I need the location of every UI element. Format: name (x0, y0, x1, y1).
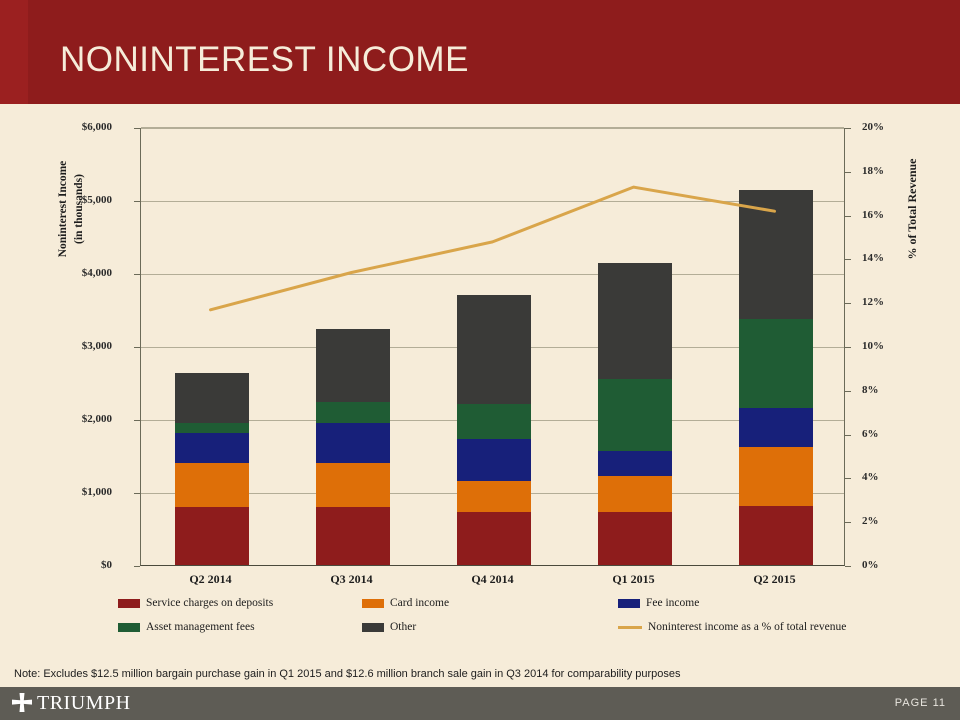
secondary-y-axis-tick-label: 12% (862, 296, 884, 308)
bar-stack[interactable] (457, 127, 531, 565)
x-axis-tick-label: Q3 2014 (281, 572, 422, 587)
y-axis-tick (134, 566, 140, 567)
legend-color-swatch (118, 623, 140, 632)
secondary-y-axis-tick (845, 435, 851, 436)
legend-color-swatch (362, 623, 384, 632)
secondary-y-axis-tick (845, 566, 851, 567)
secondary-y-axis-tick-label: 2% (862, 515, 879, 527)
brand-name: TRIUMPH (37, 692, 131, 715)
bar-segment[interactable] (739, 447, 813, 506)
slide-header: NONINTEREST INCOME (0, 0, 960, 104)
bar-segment[interactable] (598, 263, 672, 379)
secondary-y-axis-tick (845, 478, 851, 479)
bar-segment[interactable] (598, 379, 672, 451)
bar-segment[interactable] (739, 408, 813, 447)
x-axis-tick-label: Q4 2014 (422, 572, 563, 587)
legend-label: Other (390, 621, 416, 633)
bar-segment[interactable] (175, 463, 249, 507)
bar-segment[interactable] (316, 507, 390, 565)
legend-item[interactable]: Card income (362, 597, 449, 609)
slide: NONINTEREST INCOME Noninterest Income (i… (0, 0, 960, 720)
secondary-y-axis-tick-label: 4% (862, 471, 879, 483)
bar-segment[interactable] (457, 481, 531, 512)
bar-segment[interactable] (457, 512, 531, 565)
bar-stack[interactable] (316, 127, 390, 565)
legend-label: Noninterest income as a % of total reven… (648, 621, 846, 633)
bar-segment[interactable] (598, 476, 672, 512)
bar-stack[interactable] (175, 127, 249, 565)
secondary-y-axis-tick (845, 128, 851, 129)
y-axis-tick-label: $4,000 (40, 267, 112, 279)
legend-label: Card income (390, 597, 449, 609)
bar-segment[interactable] (175, 507, 249, 565)
y-axis-tick-label: $3,000 (40, 340, 112, 352)
legend-color-swatch (618, 599, 640, 608)
slide-footer: TRIUMPH PAGE 11 (0, 687, 960, 720)
secondary-y-axis-tick (845, 259, 851, 260)
bar-segment[interactable] (316, 463, 390, 507)
secondary-y-axis-tick (845, 391, 851, 392)
legend-item[interactable]: Noninterest income as a % of total reven… (618, 621, 846, 633)
legend-label: Asset management fees (146, 621, 255, 633)
y-axis-tick-label: $6,000 (40, 121, 112, 133)
bar-segment[interactable] (598, 512, 672, 565)
legend-label: Service charges on deposits (146, 597, 273, 609)
y-axis-tick-label: $2,000 (40, 413, 112, 425)
y-axis-tick-label: $5,000 (40, 194, 112, 206)
secondary-y-axis-tick-label: 6% (862, 428, 879, 440)
page-number: PAGE 11 (895, 697, 946, 709)
y-axis-tick-label: $1,000 (40, 486, 112, 498)
plot-area (140, 128, 845, 566)
bar-segment[interactable] (457, 404, 531, 439)
legend-color-swatch (118, 599, 140, 608)
secondary-y-axis-tick (845, 303, 851, 304)
x-axis-tick-label: Q2 2014 (140, 572, 281, 587)
legend-item[interactable]: Asset management fees (118, 621, 255, 633)
secondary-y-axis-title: % of Total Revenue (905, 134, 920, 284)
y-axis-title: Noninterest Income (in thousands) (56, 139, 87, 279)
legend-line-swatch (618, 626, 642, 629)
bar-segment[interactable] (175, 423, 249, 433)
legend-item[interactable]: Other (362, 621, 416, 633)
secondary-y-axis-tick (845, 172, 851, 173)
secondary-y-axis-tick (845, 216, 851, 217)
x-axis-tick-label: Q2 2015 (704, 572, 845, 587)
secondary-y-axis-tick-label: 0% (862, 559, 879, 571)
x-axis-tick-label: Q1 2015 (563, 572, 704, 587)
bar-segment[interactable] (175, 433, 249, 463)
legend-color-swatch (362, 599, 384, 608)
bar-segment[interactable] (175, 373, 249, 423)
secondary-y-axis-tick-label: 10% (862, 340, 884, 352)
secondary-y-axis-tick-label: 8% (862, 384, 879, 396)
legend-item[interactable]: Service charges on deposits (118, 597, 273, 609)
chart-area: Noninterest Income (in thousands) % of T… (0, 104, 960, 655)
chart-legend: Service charges on depositsCard incomeFe… (0, 595, 960, 643)
page-title: NONINTEREST INCOME (60, 40, 469, 80)
y-axis-tick-label: $0 (40, 559, 112, 571)
bar-segment[interactable] (598, 451, 672, 476)
secondary-y-axis-tick (845, 347, 851, 348)
bar-stack[interactable] (598, 127, 672, 565)
legend-label: Fee income (646, 597, 699, 609)
legend-item[interactable]: Fee income (618, 597, 699, 609)
header-accent-bar (0, 0, 28, 104)
secondary-y-axis-tick (845, 522, 851, 523)
bar-segment[interactable] (739, 319, 813, 408)
bar-segment[interactable] (457, 295, 531, 404)
bar-segment[interactable] (739, 190, 813, 319)
bar-segment[interactable] (316, 329, 390, 402)
secondary-y-axis-tick-label: 14% (862, 252, 884, 264)
bar-segment[interactable] (457, 439, 531, 481)
secondary-y-axis-tick-label: 16% (862, 209, 884, 221)
brand-logo: TRIUMPH (10, 691, 131, 715)
bar-segment[interactable] (739, 506, 813, 565)
secondary-y-axis-tick-label: 18% (862, 165, 884, 177)
bar-segment[interactable] (316, 402, 390, 423)
cross-mark-icon (10, 691, 34, 715)
bar-segment[interactable] (316, 423, 390, 463)
secondary-y-axis-tick-label: 20% (862, 121, 884, 133)
footnote: Note: Excludes $12.5 million bargain pur… (14, 668, 681, 680)
bar-stack[interactable] (739, 127, 813, 565)
